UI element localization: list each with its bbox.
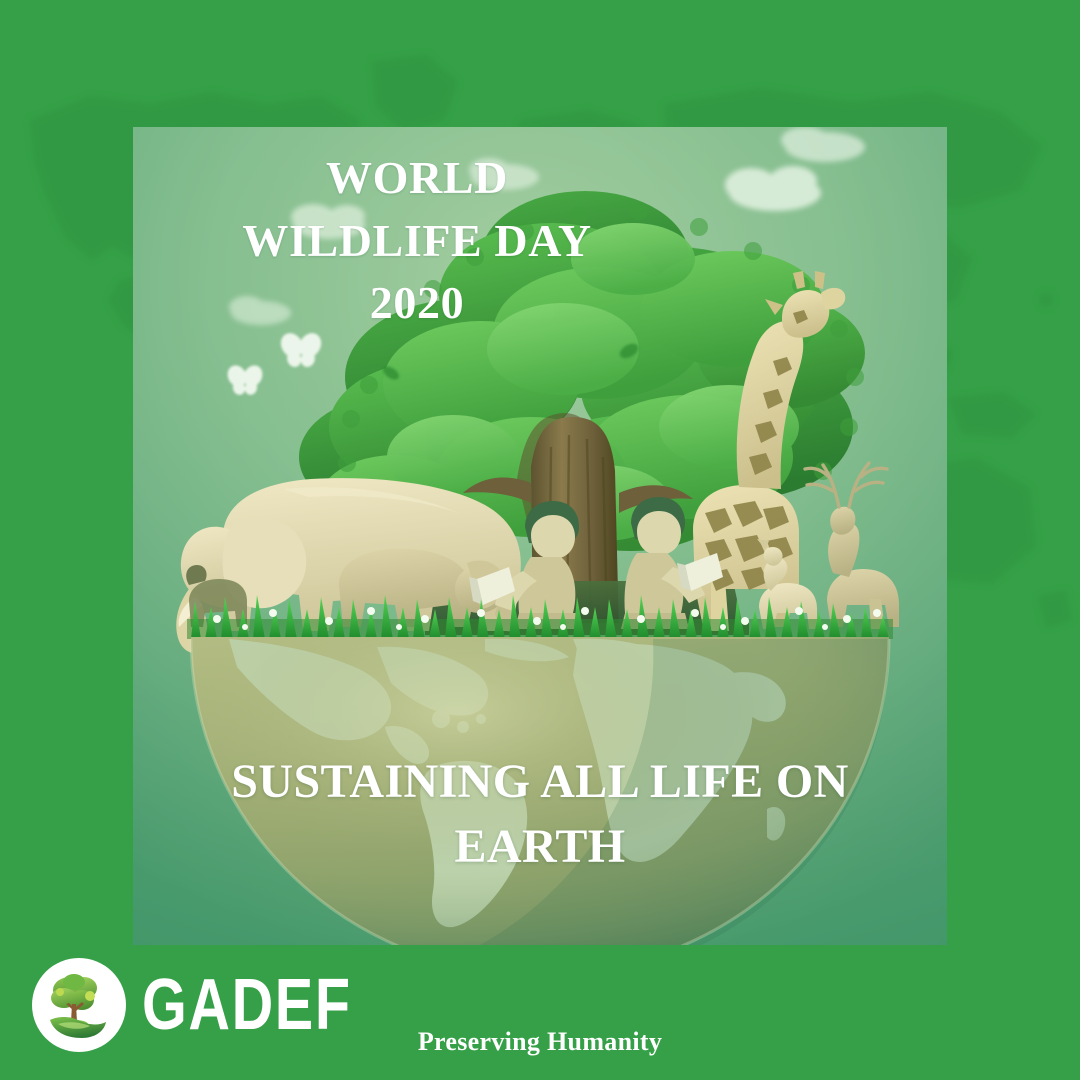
poster-headline: WORLD WILDLIFE DAY 2020 [157, 147, 677, 335]
headline-line-1: WORLD [157, 147, 677, 210]
tagline-line-1: SUSTAINING ALL LIFE ON [133, 749, 947, 814]
poster-root: WORLD WILDLIFE DAY 2020 SUSTAINING ALL L… [0, 0, 1080, 1080]
footer-brand-bar: GADEF Preserving Humanity [0, 945, 1080, 1080]
tagline-line-2: EARTH [133, 814, 947, 879]
artwork-panel: WORLD WILDLIFE DAY 2020 SUSTAINING ALL L… [133, 127, 947, 945]
headline-line-2: WILDLIFE DAY [157, 210, 677, 273]
brand-tagline: Preserving Humanity [0, 1027, 1080, 1057]
poster-tagline: SUSTAINING ALL LIFE ON EARTH [133, 749, 947, 880]
headline-line-3: 2020 [157, 272, 677, 335]
